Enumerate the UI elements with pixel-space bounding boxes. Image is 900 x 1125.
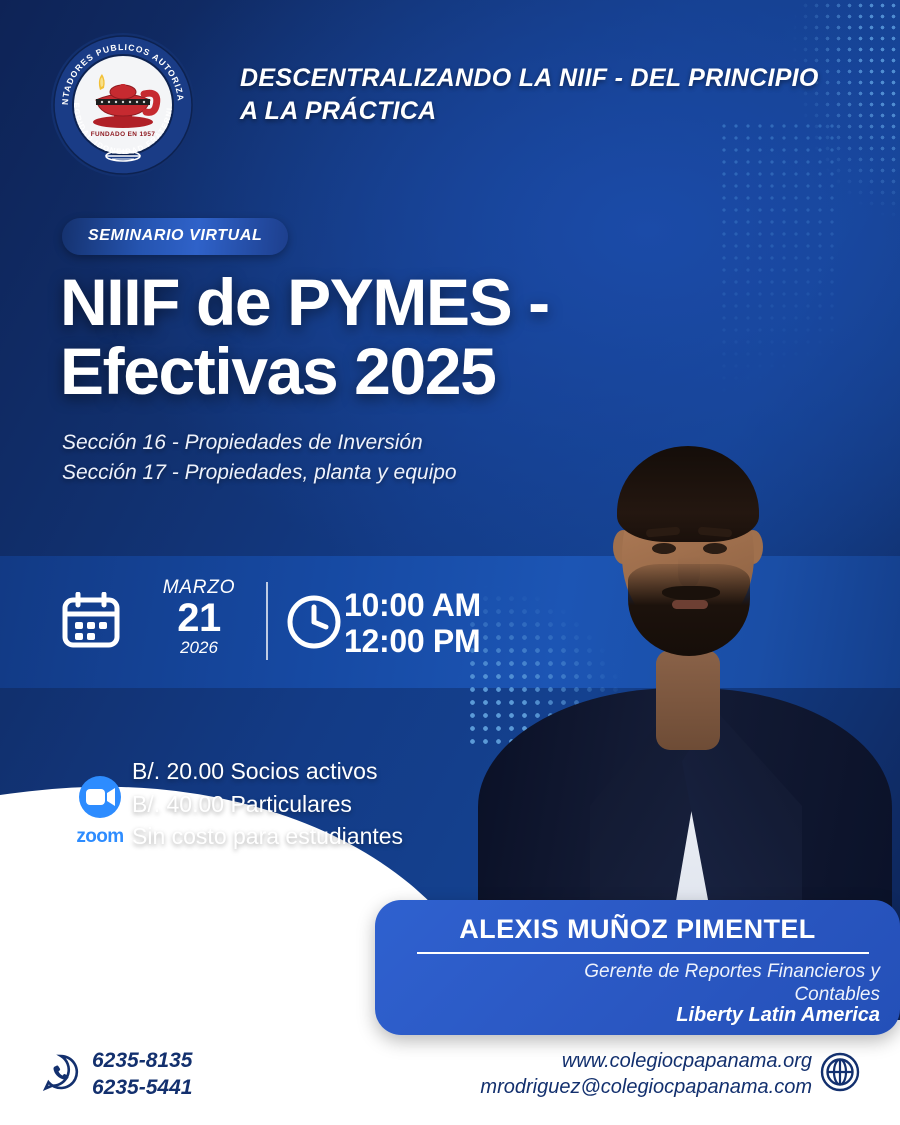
header-title-line1: DESCENTRALIZANDO LA NIIF - DEL PRINCIPIO: [240, 62, 840, 95]
speaker-neck: [656, 650, 720, 750]
price-members: B/. 20.00 Socios activos: [132, 755, 403, 788]
title-line1: NIIF de PYMES -: [60, 268, 620, 337]
speaker-eye-left: [652, 543, 676, 554]
event-time-start: 10:00 AM: [344, 588, 481, 624]
flyer-header-title: DESCENTRALIZANDO LA NIIF - DEL PRINCIPIO…: [240, 62, 840, 128]
zoom-video-icon: [72, 776, 128, 820]
event-year: 2026: [140, 639, 258, 658]
footer-web-contact: www.colegiocpapanama.org mrodriguez@cole…: [480, 1048, 812, 1101]
svg-text:FUNDADO EN 1957: FUNDADO EN 1957: [91, 131, 156, 138]
subtitle-line2: Sección 17 - Propiedades, planta y equip…: [62, 458, 582, 488]
speaker-banner: ALEXIS MUÑOZ PIMENTEL Gerente de Reporte…: [375, 900, 900, 1035]
event-day: 21: [140, 598, 258, 638]
zoom-wordmark: zoom: [62, 826, 138, 848]
speaker-mouth: [672, 600, 708, 609]
header-title-line2: A LA PRÁCTICA: [240, 95, 840, 128]
speaker-role-line1: Gerente de Reportes Financieros y: [440, 960, 880, 983]
footer-phone-1[interactable]: 6235-8135: [92, 1048, 192, 1075]
clock-icon: [286, 594, 342, 655]
event-date: MARZO 21 2026: [140, 578, 258, 658]
pricing-list: B/. 20.00 Socios activos B/. 40.00 Parti…: [132, 755, 403, 853]
event-time: 10:00 AM 12:00 PM: [344, 588, 481, 660]
zoom-logo: zoom: [62, 776, 138, 848]
footer-website[interactable]: www.colegiocpapanama.org: [480, 1048, 812, 1074]
page-subtitle: Sección 16 - Propiedades de Inversión Se…: [62, 428, 582, 488]
footer-phones: 6235-8135 6235-5441: [92, 1048, 192, 1102]
event-time-end: 12:00 PM: [344, 624, 481, 660]
speaker-company: Liberty Latin America: [440, 1004, 880, 1027]
speaker-role: Gerente de Reportes Financieros y Contab…: [440, 960, 880, 1006]
seminar-flyer: COLEGIO DE CONTADORES PUBLICOS AUTORIZAD…: [0, 0, 900, 1125]
speaker-mustache: [662, 586, 720, 600]
footer-phone-2[interactable]: 6235-5441: [92, 1075, 192, 1102]
page-title: NIIF de PYMES - Efectivas 2025: [60, 268, 620, 407]
price-general: B/. 40.00 Particulares: [132, 788, 403, 821]
speaker-hair: [617, 446, 759, 542]
seminar-type-badge: SEMINARIO VIRTUAL: [62, 218, 288, 255]
globe-icon[interactable]: [820, 1052, 860, 1097]
whatsapp-icon[interactable]: [42, 1053, 80, 1096]
band-divider: [266, 582, 268, 660]
calendar-icon: [62, 592, 120, 653]
price-students: Sin costo para estudiantes: [132, 820, 403, 853]
footer-email[interactable]: mrodriguez@colegiocpapanama.com: [480, 1074, 812, 1100]
speaker-role-line2: Contables: [440, 983, 880, 1006]
cpa-panama-seal: COLEGIO DE CONTADORES PUBLICOS AUTORIZAD…: [48, 30, 198, 180]
speaker-name: ALEXIS MUÑOZ PIMENTEL: [375, 914, 900, 945]
speaker-divider: [417, 952, 869, 954]
speaker-beard: [628, 564, 750, 656]
title-line2: Efectivas 2025: [60, 337, 620, 406]
subtitle-line1: Sección 16 - Propiedades de Inversión: [62, 428, 582, 458]
speaker-eye-right: [703, 543, 727, 554]
